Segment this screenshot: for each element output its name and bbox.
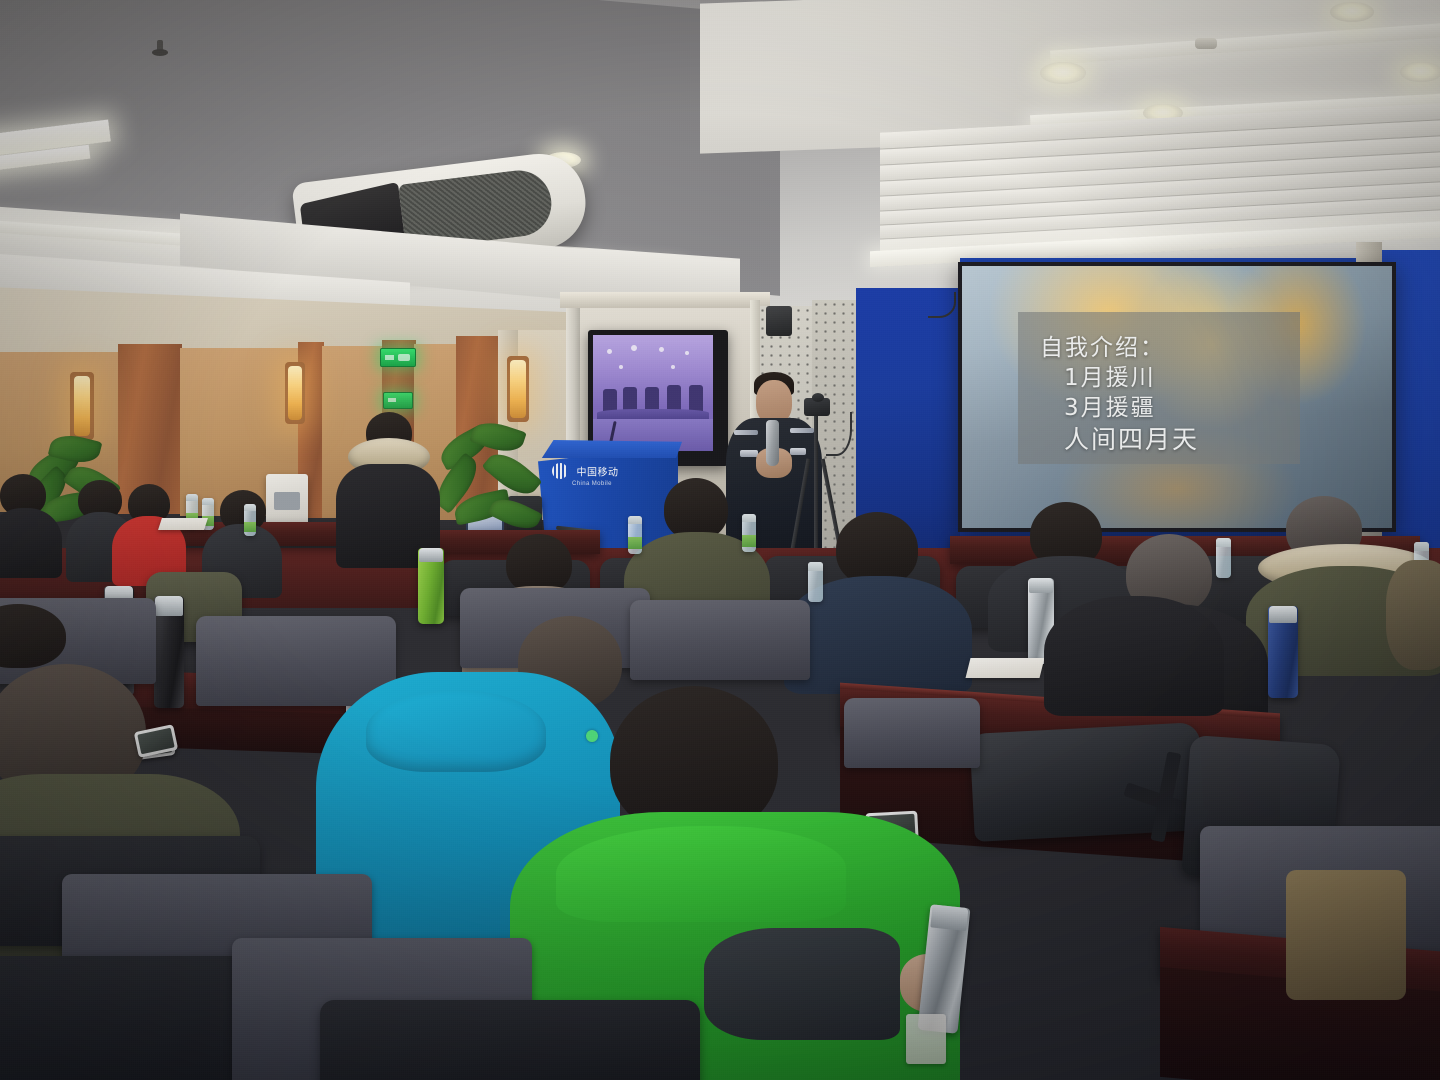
wall-header-beam (560, 292, 770, 308)
jacket-shoulder-panel-grey (704, 928, 900, 1040)
wall-sconce (74, 376, 90, 436)
wall-sconce (288, 366, 302, 420)
water-dispenser-panel (274, 492, 300, 510)
thermos-flask (154, 596, 184, 708)
standing-attendee (330, 412, 442, 562)
slide-text-box: 自我介绍： 1月援川 3月援疆 人间四月天 (1018, 312, 1300, 464)
chair-foreground (630, 600, 810, 680)
notepad (966, 658, 1045, 678)
wall-sconce (510, 360, 526, 418)
thermos-label (906, 1014, 946, 1064)
chair-foreground (320, 1000, 700, 1080)
chair-foreground (196, 616, 396, 706)
fur-hood (1386, 560, 1440, 670)
audience-head (506, 534, 572, 594)
slide-title: 自我介绍： (1040, 328, 1165, 362)
jacket-hood-cyan (366, 690, 546, 772)
chair-upholstery-tan (1286, 870, 1406, 1000)
wall-speaker-icon (766, 306, 792, 336)
projection-screen: 自我介绍： 1月援川 3月援疆 人间四月天 (958, 262, 1396, 532)
audience-body (0, 508, 62, 578)
conference-room-photo: 自我介绍： 1月援川 3月援疆 人间四月天 中国移动 China Mobile (0, 0, 1440, 1080)
notepad (158, 518, 208, 530)
presenter-badge (740, 450, 758, 457)
camera-lens-icon (812, 393, 824, 402)
audience-head (664, 478, 728, 540)
tripod-leg (790, 458, 811, 555)
tripod-leg (814, 416, 818, 556)
thermos-flask (1268, 606, 1298, 698)
presenter-epaulette-left (734, 430, 758, 435)
smoke-detector-icon (1195, 38, 1217, 49)
audience-head (836, 512, 918, 586)
thermos-flask (418, 548, 444, 624)
jacket-collar-green (556, 826, 846, 922)
backpack (969, 722, 1204, 842)
ceiling-downlight (1040, 62, 1086, 84)
monitor-screen (593, 335, 713, 451)
podium-logo-cn: 中国移动 (576, 467, 618, 478)
chair-foreground (844, 698, 980, 768)
exit-sign (383, 392, 413, 409)
slide-line-3: 人间四月天 (1064, 420, 1199, 456)
exit-sign (380, 348, 416, 367)
ceiling-downlight (1330, 2, 1374, 22)
sprinkler-head-icon (152, 40, 168, 62)
water-bottle (808, 562, 823, 602)
camera-cable (826, 412, 852, 456)
water-bottle (1216, 538, 1231, 578)
jacket-zip-pull-icon (586, 730, 598, 742)
water-bottle (628, 516, 642, 554)
water-bottle (742, 514, 756, 552)
ceiling-downlight (1400, 62, 1440, 82)
microphone-icon (766, 420, 779, 466)
podium-logo: 中国移动 China Mobile (552, 462, 644, 488)
water-bottle (244, 504, 256, 536)
slide-line-2: 3月援疆 (1064, 388, 1156, 422)
slide-line-1: 1月援川 (1064, 358, 1156, 392)
audience-body (1044, 596, 1224, 716)
podium-logo-en: China Mobile (572, 481, 644, 487)
